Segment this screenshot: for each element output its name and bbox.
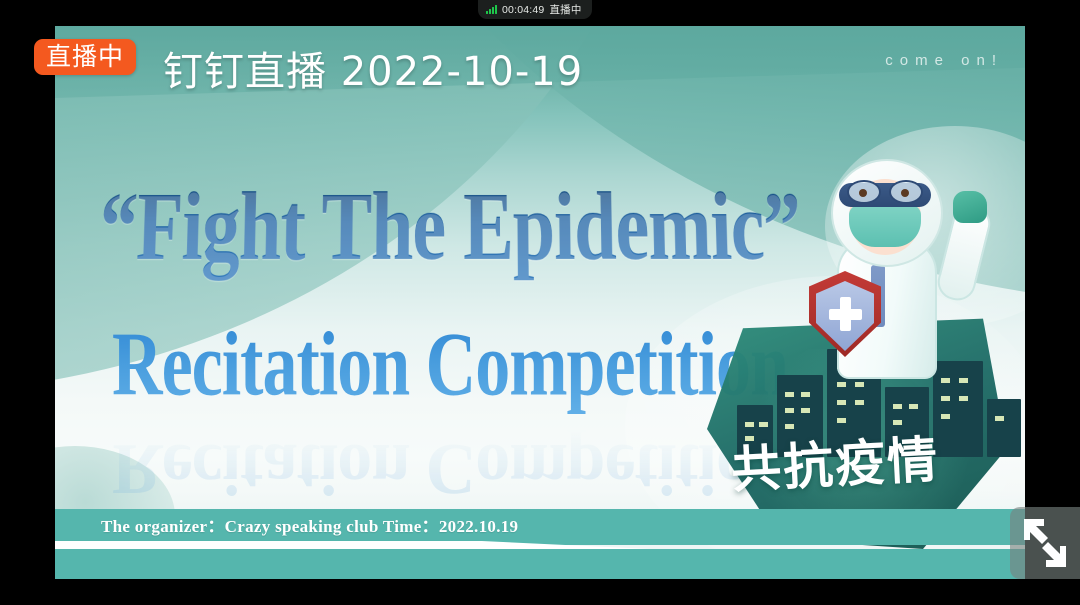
cross-icon-horizontal (829, 309, 862, 320)
slide-header-title: 钉钉直播 2022-10-19 (163, 39, 583, 97)
live-status-pill: 00:04:49 直播中 (478, 0, 592, 19)
stream-state-label: 直播中 (549, 2, 581, 17)
footer-base-band (55, 549, 1025, 579)
medical-worker-figure-icon (809, 149, 979, 379)
phone-screen: 00:04:49 直播中 钉钉直播 2022-10-19 come on! “F… (0, 0, 1080, 605)
status-bar: 00:04:49 直播中 (0, 0, 1080, 20)
worker-waving-hand (953, 191, 987, 223)
video-stream-area[interactable]: 钉钉直播 2022-10-19 come on! “Fight The Epid… (55, 26, 1025, 579)
fullscreen-toggle-button[interactable] (1010, 507, 1080, 579)
bottom-letterbox (0, 579, 1080, 605)
worker-eye-right (901, 189, 909, 197)
worker-eye-left (859, 189, 867, 197)
live-badge: 直播中 (34, 39, 136, 75)
stream-timer: 00:04:49 (502, 4, 544, 16)
illustration-group: 共抗疫情 (725, 119, 1025, 549)
expand-arrows-icon (1018, 515, 1072, 571)
signal-bars-icon (486, 5, 497, 14)
illustration-slogan: 共抗疫情 (729, 420, 940, 503)
slide-corner-text: come on! (885, 52, 1003, 69)
face-mask-icon (849, 205, 921, 247)
organizer-info: The organizer：Crazy speaking club Time：2… (101, 512, 518, 537)
